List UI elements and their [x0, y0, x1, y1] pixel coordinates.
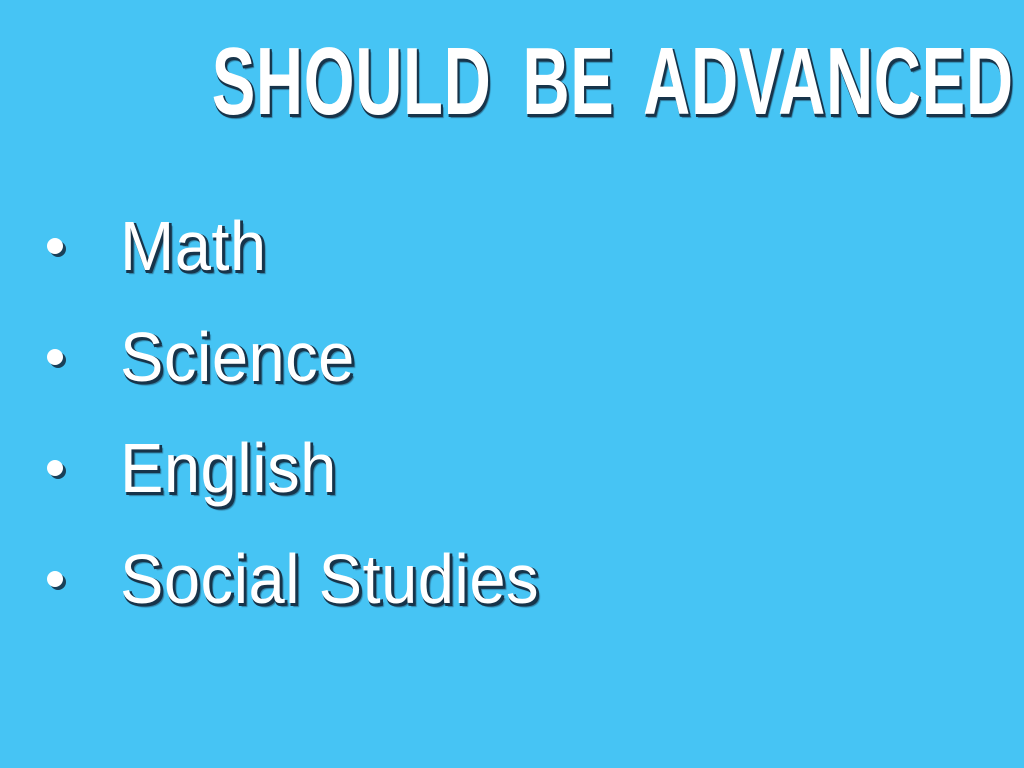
bullet-dot-icon: [47, 460, 63, 476]
page-title: SHOULD BE ADVANCED IN: [212, 34, 1024, 130]
slide-canvas: SHOULD BE ADVANCED IN Math Science Engli…: [0, 0, 1024, 768]
list-item: Social Studies: [0, 523, 1024, 634]
list-item-label: English: [120, 433, 337, 503]
list-item: Science: [0, 301, 1024, 412]
bullet-dot-icon: [47, 571, 63, 587]
bullet-dot-icon: [47, 349, 63, 365]
list-item-label: Math: [120, 211, 267, 281]
bullet-dot-icon: [47, 238, 63, 254]
list-item: Math: [0, 190, 1024, 301]
bullet-list: Math Science English Social Studies: [0, 190, 1024, 634]
slide-title-block: SHOULD BE ADVANCED IN: [0, 34, 1024, 130]
list-item-label: Social Studies: [120, 544, 539, 614]
list-item: English: [0, 412, 1024, 523]
list-item-label: Science: [120, 322, 355, 392]
